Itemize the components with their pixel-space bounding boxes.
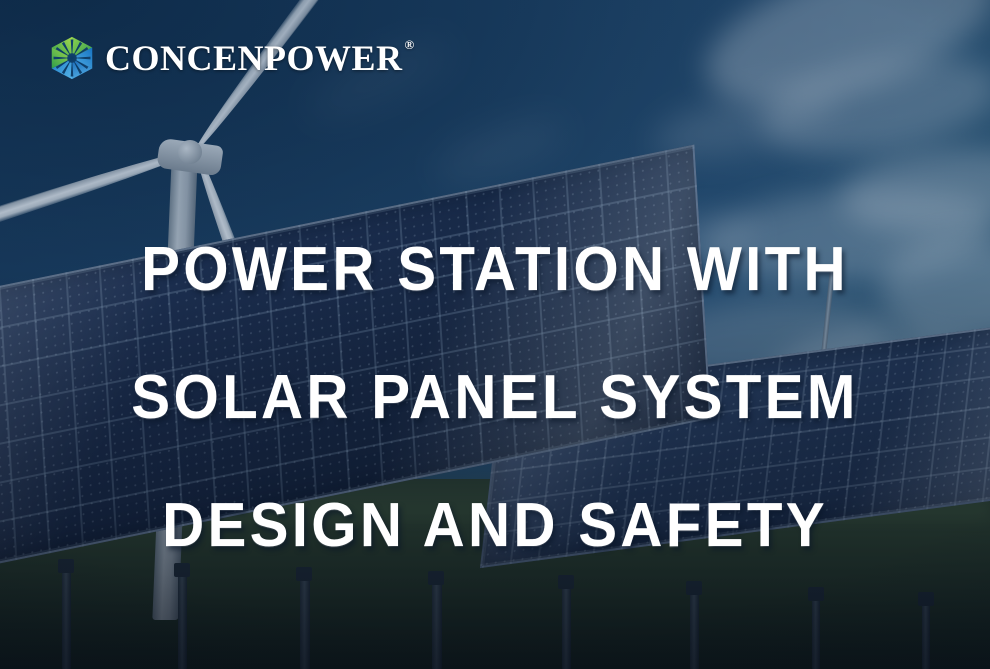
hexagon-starburst-icon [50, 36, 94, 80]
mount-post [690, 585, 699, 669]
mount-post [922, 597, 930, 669]
headline-block: POWER STATION WITH SOLAR PANEL SYSTEM DE… [0, 206, 990, 590]
headline-line-3: DESIGN AND SAFETY [79, 462, 912, 590]
mount-bracket [918, 592, 934, 606]
brand-logo[interactable]: CONCENPOWER ® [50, 36, 414, 80]
brand-wordmark: CONCENPOWER [105, 40, 403, 76]
headline-line-1: POWER STATION WITH [79, 206, 912, 334]
turbine-hub [178, 140, 202, 164]
registered-trademark-symbol: ® [405, 37, 415, 53]
mount-post [562, 579, 571, 669]
promo-banner: CONCENPOWER ® POWER STATION WITH SOLAR P… [0, 0, 990, 669]
mount-post [812, 591, 820, 669]
headline-line-2: SOLAR PANEL SYSTEM [79, 334, 912, 462]
